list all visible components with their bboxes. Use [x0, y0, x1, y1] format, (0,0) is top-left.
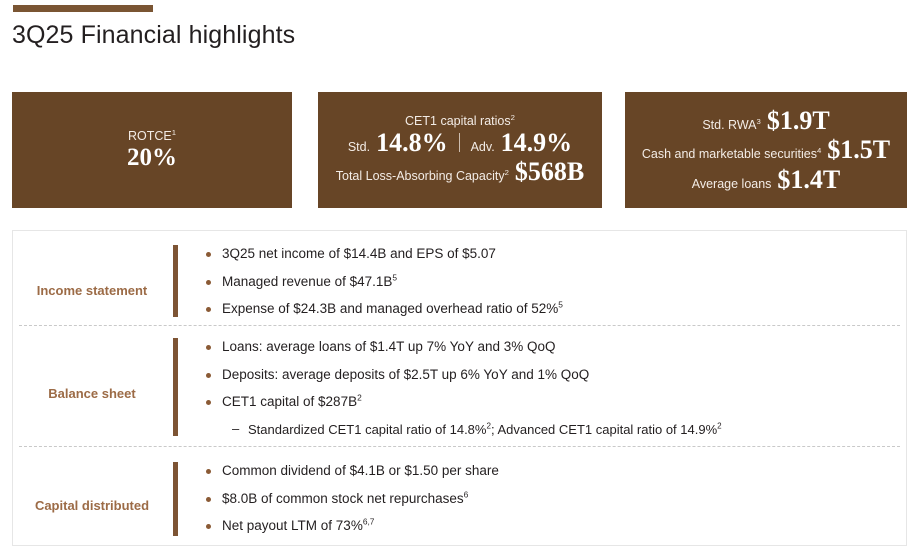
list-item: Expense of $24.3B and managed overhead r…: [206, 302, 906, 316]
metric-box-balance-metrics: Std. RWA3 $1.9T Cash and marketable secu…: [625, 92, 907, 208]
cash-securities-line: Cash and marketable securities4 $1.5T: [642, 135, 890, 164]
average-loans-value: $1.4T: [777, 165, 840, 194]
rotce-label-line: ROTCE1: [128, 129, 176, 143]
metric-box-rotce: ROTCE1 20%: [12, 92, 292, 208]
cet1-ratio-separator: [459, 133, 460, 152]
metric-boxes-row: ROTCE1 20% CET1 capital ratios2 Std. 14.…: [12, 92, 907, 208]
list-item: Net payout LTM of 73%6,7: [206, 519, 906, 533]
list-item: Deposits: average deposits of $2.5T up 6…: [206, 368, 906, 382]
bullet-list-capital-distributed: Common dividend of $4.1B or $1.50 per sh…: [178, 462, 906, 547]
metric-box-cet1-capital-ratios: CET1 capital ratios2 Std. 14.8% Adv. 14.…: [318, 92, 602, 208]
cet1-title-label: CET1 capital ratios2: [405, 114, 515, 128]
cet1-title-footnote-marker: 2: [511, 113, 515, 122]
bullet-list-income-statement: 3Q25 net income of $14.4B and EPS of $5.…: [178, 245, 906, 330]
cet1-ratios-line: Std. 14.8% Adv. 14.9%: [348, 128, 572, 157]
average-loans-label: Average loans: [692, 177, 772, 191]
tlac-label: Total Loss-Absorbing Capacity2: [336, 169, 509, 183]
list-item: CET1 capital of $287B2: [206, 395, 906, 409]
rwa-line: Std. RWA3 $1.9T: [702, 106, 829, 135]
cash-securities-label: Cash and marketable securities4: [642, 147, 821, 161]
rotce-footnote-marker: 1: [172, 127, 176, 136]
cet1-adv-value: 14.9%: [501, 128, 573, 157]
average-loans-line: Average loans $1.4T: [692, 165, 841, 194]
bullet-list-balance-sheet: Loans: average loans of $1.4T up 7% YoY …: [178, 338, 906, 446]
cash-securities-value: $1.5T: [827, 135, 890, 164]
rotce-value-line: 20%: [127, 143, 177, 172]
section-label-income-statement: Income statement: [13, 245, 173, 298]
sub-list-item: Standardized CET1 capital ratio of 14.8%…: [206, 423, 906, 436]
detail-section-capital-distributed: Capital distributed Common dividend of $…: [13, 447, 906, 545]
detail-panel: Income statement 3Q25 net income of $14.…: [12, 230, 907, 546]
section-label-capital-distributed: Capital distributed: [13, 462, 173, 513]
header-accent-rule: [13, 5, 153, 12]
rotce-value: 20%: [127, 144, 177, 172]
list-item: Managed revenue of $47.1B5: [206, 275, 906, 289]
tlac-line: Total Loss-Absorbing Capacity2 $568B: [336, 157, 585, 186]
list-item: Loans: average loans of $1.4T up 7% YoY …: [206, 340, 906, 354]
rwa-value: $1.9T: [767, 106, 830, 135]
cet1-adv-label: Adv.: [471, 140, 495, 154]
cet1-std-value: 14.8%: [376, 128, 448, 157]
tlac-value: $568B: [515, 157, 584, 186]
rotce-label: ROTCE1: [128, 129, 176, 143]
rwa-label: Std. RWA3: [702, 118, 761, 132]
cet1-std-label: Std.: [348, 140, 370, 154]
list-item: $8.0B of common stock net repurchases6: [206, 492, 906, 506]
section-label-balance-sheet: Balance sheet: [13, 338, 173, 401]
detail-section-balance-sheet: Balance sheet Loans: average loans of $1…: [13, 326, 906, 446]
list-item: 3Q25 net income of $14.4B and EPS of $5.…: [206, 247, 906, 261]
detail-section-income-statement: Income statement 3Q25 net income of $14.…: [13, 231, 906, 325]
list-item: Common dividend of $4.1B or $1.50 per sh…: [206, 464, 906, 478]
tlac-footnote-marker: 2: [505, 168, 509, 177]
rwa-footnote-marker: 3: [757, 117, 761, 126]
cet1-title-line: CET1 capital ratios2: [405, 114, 515, 128]
cash-securities-footnote-marker: 4: [817, 146, 821, 155]
page-title: 3Q25 Financial highlights: [12, 21, 295, 50]
